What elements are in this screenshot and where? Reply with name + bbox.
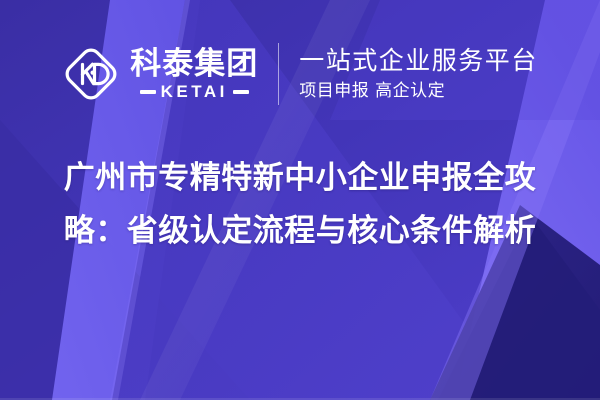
banner-header: 科泰集团 KETAI 一站式企业服务平台 项目申报 高企认定 (0, 34, 600, 114)
tagline-primary: 一站式企业服务平台 (299, 46, 538, 76)
header-tagline: 一站式企业服务平台 项目申报 高企认定 (299, 46, 538, 102)
headline-block: 广州市专精特新中小企业申报全攻 略：省级认定流程与核心条件解析 (0, 152, 600, 259)
brand-name-en-row: KETAI (140, 83, 249, 100)
headline-line-2: 略：省级认定流程与核心条件解析 (18, 205, 582, 258)
promotional-banner: 科泰集团 KETAI 一站式企业服务平台 项目申报 高企认定 广州市专精特新中小… (0, 0, 600, 400)
header-divider (278, 43, 279, 105)
tagline-secondary: 项目申报 高企认定 (299, 81, 538, 102)
brand-name-cn: 科泰集团 (130, 48, 258, 81)
brand-name-en: KETAI (161, 83, 228, 100)
wordmark-dash-left-icon (140, 90, 156, 94)
headline-line-1: 广州市专精特新中小企业申报全攻 (18, 152, 582, 205)
ketai-diamond-kd-logo-icon (62, 45, 120, 103)
brand-logo: 科泰集团 KETAI (62, 45, 258, 103)
brand-wordmark: 科泰集团 KETAI (130, 48, 258, 101)
wordmark-dash-right-icon (233, 90, 249, 94)
